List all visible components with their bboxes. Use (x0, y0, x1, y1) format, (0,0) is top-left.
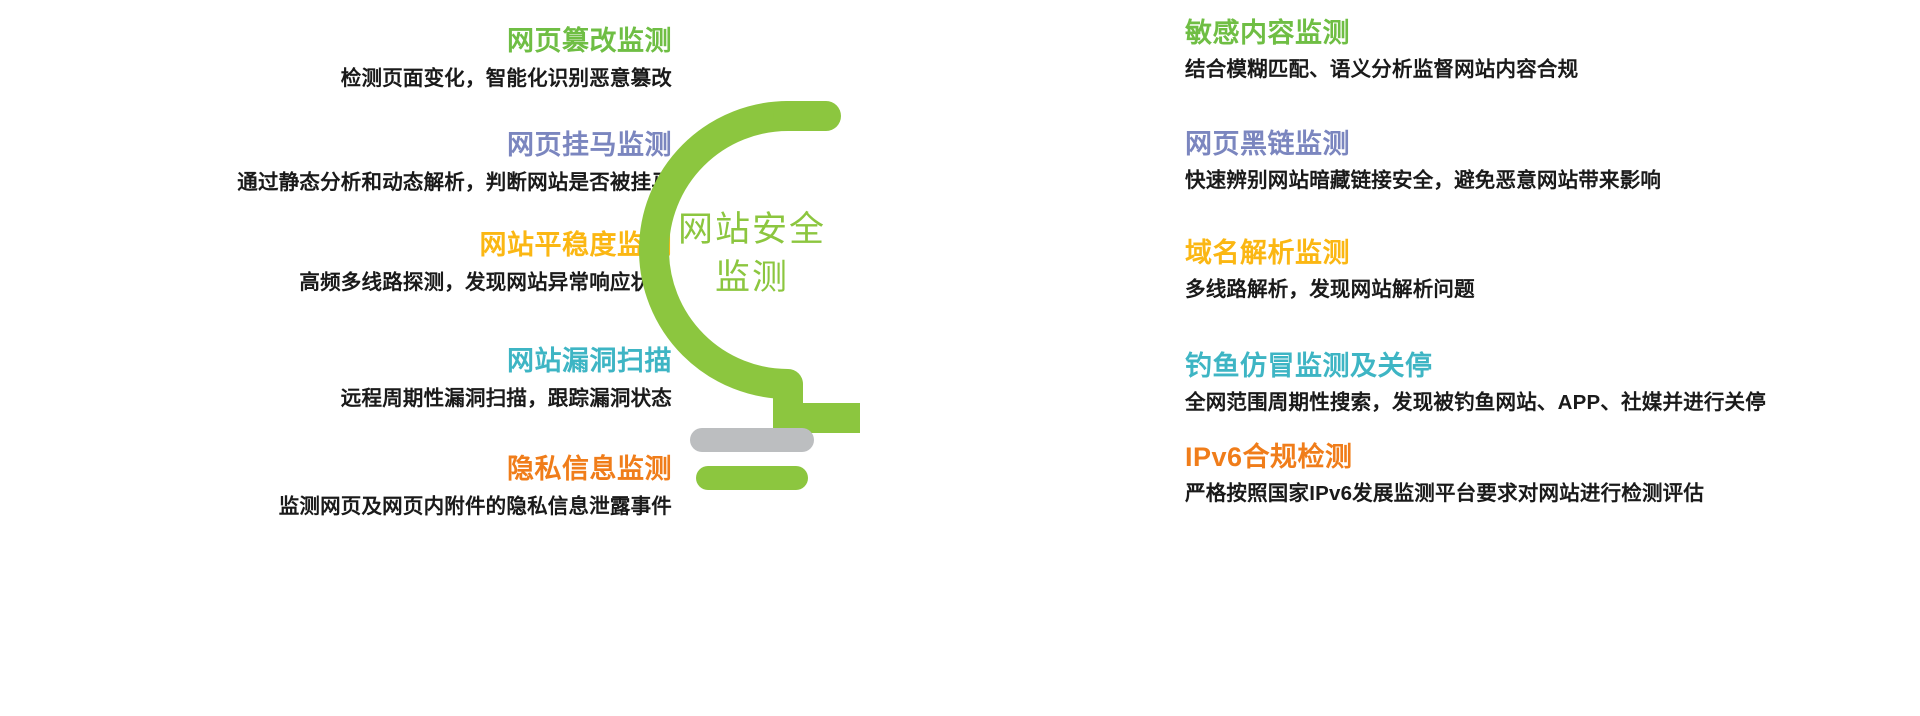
feature-description: 高频多线路探测，发现网站异常响应状况 (0, 268, 672, 298)
feature-description: 结合模糊匹配、语义分析监督网站内容合规 (1185, 55, 1875, 85)
feature-title: 网站平稳度监测 (0, 228, 672, 262)
feature-item-webpage-tamper-monitoring: 网页篡改监测 检测页面变化，智能化识别恶意篡改 (0, 24, 672, 94)
feature-title: 钓鱼仿冒监测及关停 (1185, 349, 1920, 383)
right-feature-column: 敏感内容监测 结合模糊匹配、语义分析监督网站内容合规 网页黑链监测 快速辨别网站… (1185, 0, 1920, 716)
feature-description: 全网范围周期性搜索，发现被钓鱼网站、APP、社媒并进行关停 (1185, 388, 1875, 418)
bulb-label-line2: 监测 (592, 254, 912, 302)
feature-title: 网页挂马监测 (0, 128, 672, 162)
feature-description: 严格按照国家IPv6发展监测平台要求对网站进行检测评估 (1185, 479, 1875, 509)
feature-item-ipv6-compliance-detection: IPv6合规检测 严格按照国家IPv6发展监测平台要求对网站进行检测评估 (1185, 440, 1920, 509)
feature-item-sensitive-content-monitoring: 敏感内容监测 结合模糊匹配、语义分析监督网站内容合规 (1185, 16, 1920, 85)
feature-item-website-vulnerability-scan: 网站漏洞扫描 远程周期性漏洞扫描，跟踪漏洞状态 (0, 344, 672, 414)
bulb-base-green-bar (696, 466, 808, 490)
feature-title: 网页黑链监测 (1185, 127, 1920, 161)
feature-item-phishing-impersonation-monitoring: 钓鱼仿冒监测及关停 全网范围周期性搜索，发现被钓鱼网站、APP、社媒并进行关停 (1185, 349, 1920, 418)
bulb-base-gray-bar (690, 428, 814, 452)
bulb-center-label: 网站安全 监测 (592, 206, 912, 302)
feature-item-privacy-information-monitoring: 隐私信息监测 监测网页及网页内附件的隐私信息泄露事件 (0, 452, 672, 522)
feature-title: 敏感内容监测 (1185, 16, 1920, 50)
feature-item-website-stability-monitoring: 网站平稳度监测 高频多线路探测，发现网站异常响应状况 (0, 228, 672, 298)
feature-title: 网页篡改监测 (0, 24, 672, 58)
feature-title: 隐私信息监测 (0, 452, 672, 486)
lightbulb-graphic: 网站安全 监测 (592, 88, 912, 508)
bulb-label-line1: 网站安全 (592, 206, 912, 254)
feature-title: 域名解析监测 (1185, 236, 1920, 270)
feature-item-webpage-black-link-monitoring: 网页黑链监测 快速辨别网站暗藏链接安全，避免恶意网站带来影响 (1185, 127, 1920, 196)
feature-description: 快速辨别网站暗藏链接安全，避免恶意网站带来影响 (1185, 166, 1875, 196)
feature-description: 检测页面变化，智能化识别恶意篡改 (0, 64, 672, 94)
feature-description: 远程周期性漏洞扫描，跟踪漏洞状态 (0, 384, 672, 414)
feature-item-domain-resolution-monitoring: 域名解析监测 多线路解析，发现网站解析问题 (1185, 236, 1920, 305)
feature-item-webpage-trojan-monitoring: 网页挂马监测 通过静态分析和动态解析，判断网站是否被挂马 (0, 128, 672, 198)
feature-description: 多线路解析，发现网站解析问题 (1185, 275, 1875, 305)
feature-title: IPv6合规检测 (1185, 440, 1920, 474)
feature-description: 通过静态分析和动态解析，判断网站是否被挂马 (0, 168, 672, 198)
feature-title: 网站漏洞扫描 (0, 344, 672, 378)
feature-description: 监测网页及网页内附件的隐私信息泄露事件 (0, 492, 672, 522)
left-feature-column: 网页篡改监测 检测页面变化，智能化识别恶意篡改 网页挂马监测 通过静态分析和动态… (0, 0, 672, 716)
infographic-canvas: 网页篡改监测 检测页面变化，智能化识别恶意篡改 网页挂马监测 通过静态分析和动态… (0, 0, 1920, 716)
